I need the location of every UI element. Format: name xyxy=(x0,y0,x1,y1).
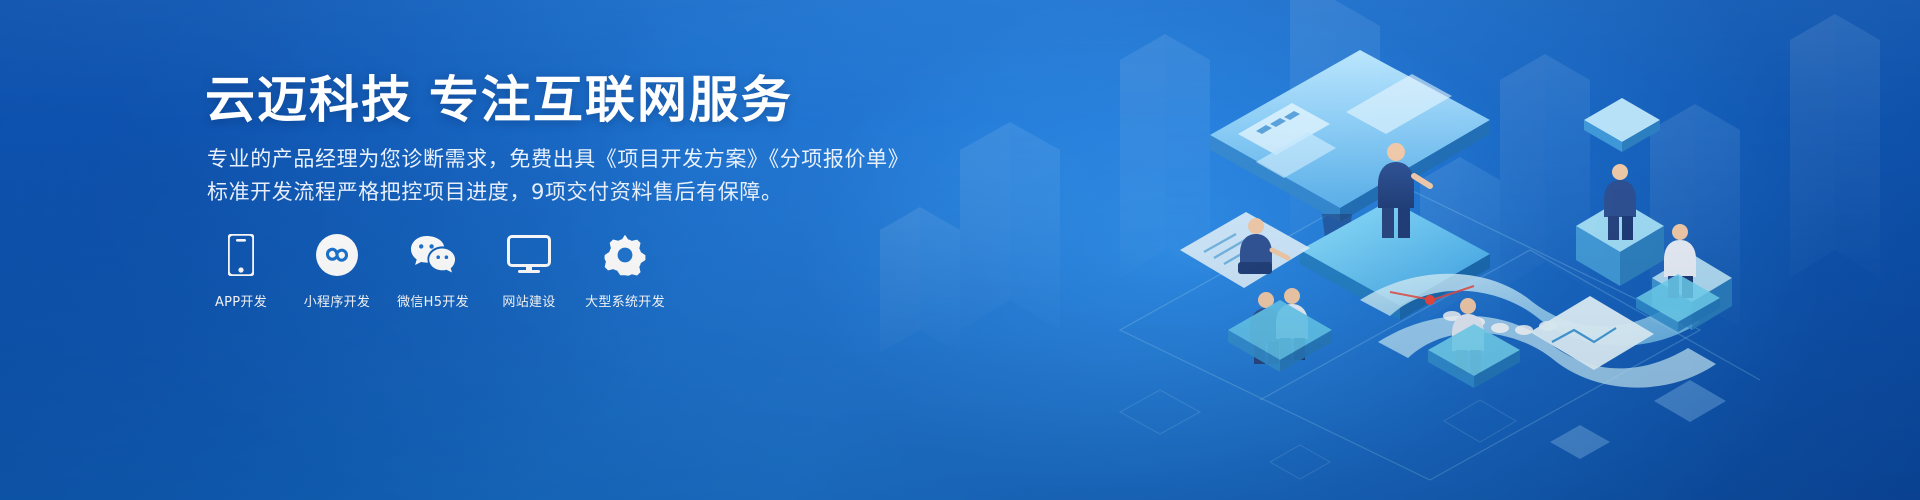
phone-icon xyxy=(228,232,254,278)
mini-program-icon xyxy=(316,232,358,278)
service-item-system[interactable]: 大型系统开发 xyxy=(589,232,661,310)
service-item-website[interactable]: 网站建设 xyxy=(493,232,565,310)
monitor-icon xyxy=(507,232,551,278)
subtitle-line-2: 标准开发流程严格把控项目进度，9项交付资料售后有保障。 xyxy=(207,176,909,209)
service-item-app[interactable]: APP开发 xyxy=(205,232,277,310)
service-label: 小程序开发 xyxy=(304,291,371,310)
service-label: 网站建设 xyxy=(502,291,555,310)
service-label: APP开发 xyxy=(215,291,267,310)
hero-text-block: 云迈科技 专注互联网服务 专业的产品经理为您诊断需求，免费出具《项目开发方案》《… xyxy=(205,0,965,500)
page-title: 云迈科技 专注互联网服务 xyxy=(205,72,793,128)
hero-subtitle: 专业的产品经理为您诊断需求，免费出具《项目开发方案》《分项报价单》 标准开发流程… xyxy=(207,143,909,209)
gear-icon xyxy=(604,232,646,278)
isometric-tech-illustration xyxy=(1060,0,1920,500)
service-list: APP开发 小程序开发 xyxy=(205,232,685,310)
service-label: 大型系统开发 xyxy=(585,291,665,310)
wechat-icon xyxy=(409,232,457,278)
service-label: 微信H5开发 xyxy=(397,291,469,310)
subtitle-line-1: 专业的产品经理为您诊断需求，免费出具《项目开发方案》《分项报价单》 xyxy=(207,143,909,176)
hero-banner: 云迈科技 专注互联网服务 专业的产品经理为您诊断需求，免费出具《项目开发方案》《… xyxy=(0,0,1920,500)
service-item-wechat[interactable]: 微信H5开发 xyxy=(397,232,469,310)
service-item-mini-program[interactable]: 小程序开发 xyxy=(301,232,373,310)
